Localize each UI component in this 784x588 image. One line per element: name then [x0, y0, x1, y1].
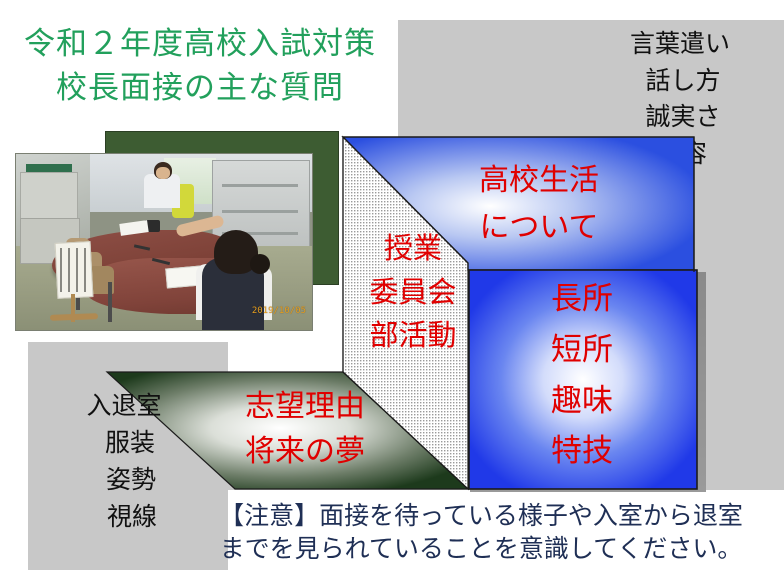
- photo-chair-leg-2: [108, 282, 112, 322]
- photo-shelf-line-2: [222, 210, 298, 213]
- caption-note: 【注意】面接を待っている様子や入室から退室 までを見られていることを意識してくだ…: [178, 500, 784, 567]
- keyword-left-2: 姿勢: [34, 462, 214, 499]
- interview-photo[interactable]: 2019/10/05: [15, 153, 313, 331]
- cube-face-front[interactable]: [469, 270, 697, 489]
- photo-student-hair-bun: [250, 254, 270, 274]
- keyword-left-0: 入退室: [34, 388, 214, 425]
- keyword-left-1: 服装: [34, 425, 214, 462]
- photo-interviewer-face: [156, 167, 170, 179]
- cube-shadow-right: [697, 272, 706, 494]
- photo-interviewer-body: [144, 174, 180, 208]
- photo-timestamp: 2019/10/05: [252, 306, 306, 316]
- slide-canvas: 令和２年度高校入試対策 校長面接の主な質問 言葉遣い 話し方 誠実さ 内容: [0, 0, 784, 588]
- photo-sign-text-lines: [60, 248, 86, 292]
- photo-shelf-line-1: [222, 184, 298, 187]
